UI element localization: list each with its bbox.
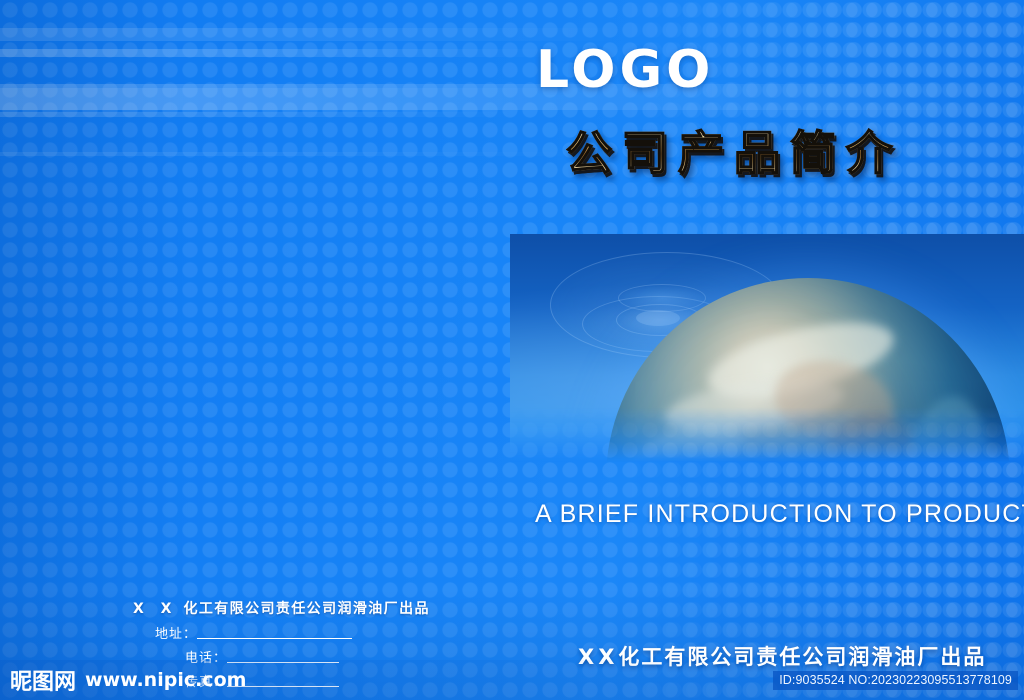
- earth-globe-image: [510, 234, 1024, 462]
- logo-text: LOGO: [536, 44, 714, 96]
- cloud-wisp: [643, 454, 878, 462]
- lens-flare-icon: [636, 310, 680, 326]
- contact-rule-address[interactable]: [197, 638, 352, 639]
- cloud-wisp: [662, 370, 847, 443]
- contact-label-address: 地址：: [155, 623, 197, 642]
- landmass-wisp: [800, 396, 933, 462]
- cloud-wisp: [619, 409, 752, 462]
- subtitle-english: A BRIEF INTRODUCTION TO PRODUCTS: [535, 500, 1024, 529]
- id-badge: ID:9035524 NO:20230223095513778109: [773, 671, 1018, 690]
- cloud-wisp: [702, 308, 901, 412]
- cloud-wisp: [896, 391, 996, 462]
- cloud-wisp: [842, 457, 1000, 462]
- nipic-logo-cn: 昵图网: [10, 664, 76, 696]
- contact-company-name: 化工有限公司责任公司润滑油厂出品: [183, 601, 429, 617]
- nipic-url: www.nipic.com: [85, 669, 246, 691]
- headline-title-cn: 公司产品简介: [566, 129, 902, 177]
- poster-canvas: LOGO 公司产品简介 A BRIEF INTRODUCTION: [0, 0, 1024, 700]
- landmass-wisp: [767, 350, 901, 453]
- contact-company-line: X X化工有限公司责任公司润滑油厂出品: [133, 598, 430, 618]
- contact-company-prefix: X X: [133, 601, 177, 617]
- contact-field-address[interactable]: 地址：: [155, 623, 430, 642]
